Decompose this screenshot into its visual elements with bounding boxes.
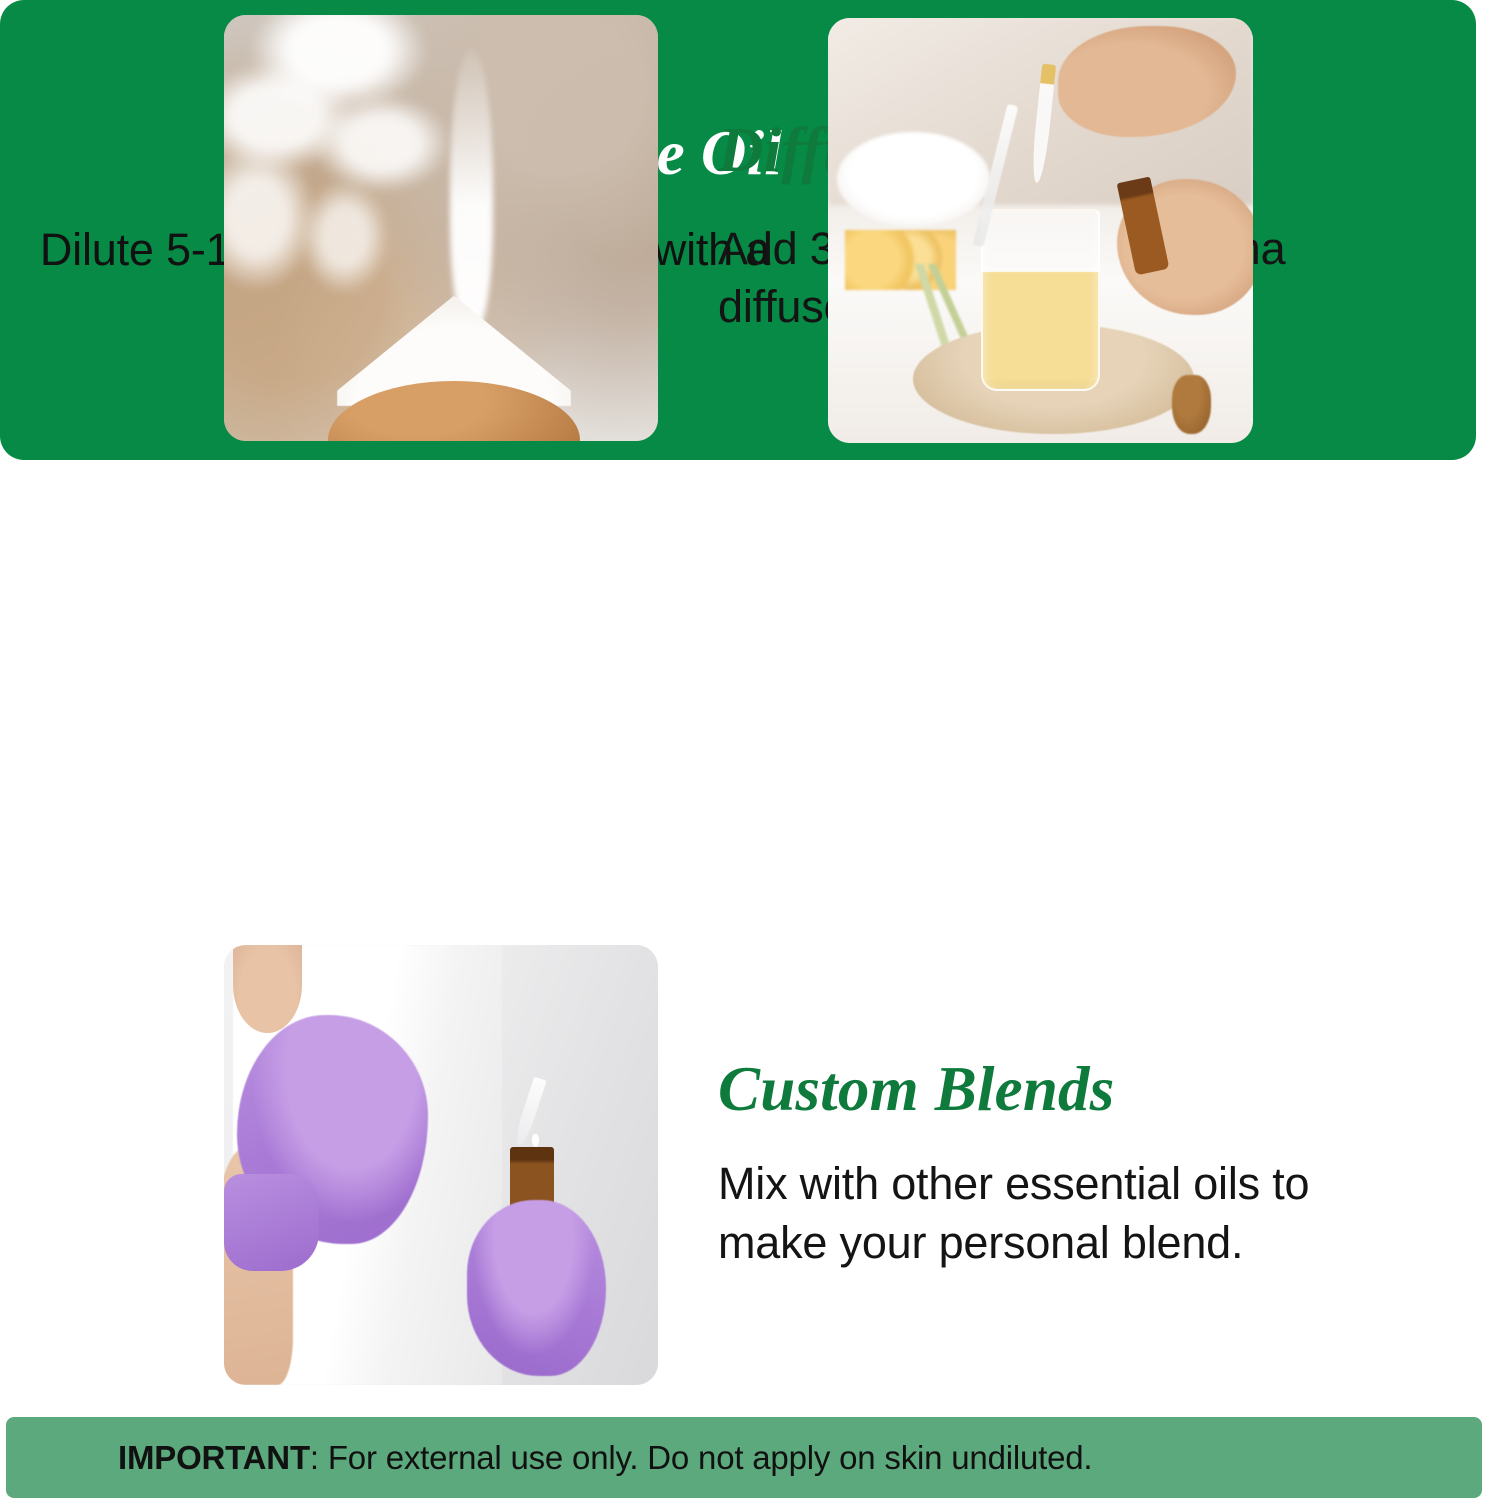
glass-beaker-icon [981, 209, 1100, 392]
disclaimer-text: IMPORTANT: For external use only. Do not… [118, 1439, 1092, 1477]
massage-oil-photo [828, 18, 1253, 443]
disclaimer-label: IMPORTANT [118, 1439, 310, 1476]
glove-cuff-icon [224, 1174, 319, 1271]
section-custom-blends: Custom Blends Mix with other essential o… [0, 940, 1488, 1390]
custom-blends-body: Mix with other essential oils to make yo… [718, 1155, 1418, 1272]
disclaimer-body: For external use only. Do not apply on s… [328, 1439, 1093, 1476]
mist-jet-icon [450, 49, 493, 330]
diffuse-photo [224, 15, 658, 441]
purple-glove-right-icon [467, 1200, 606, 1376]
section-diffuse: Diffuse Add 3-5 drops to your aroma diff… [0, 0, 1488, 455]
small-amber-bottle-icon [1172, 375, 1210, 435]
custom-blends-text-column: Custom Blends Mix with other essential o… [718, 1058, 1418, 1272]
custom-blends-heading: Custom Blends [718, 1058, 1418, 1121]
white-plate-icon [837, 132, 990, 226]
disclaimer-bar: IMPORTANT: For external use only. Do not… [6, 1417, 1482, 1498]
disclaimer-separator: : [310, 1439, 328, 1476]
custom-blends-photo [224, 945, 658, 1385]
